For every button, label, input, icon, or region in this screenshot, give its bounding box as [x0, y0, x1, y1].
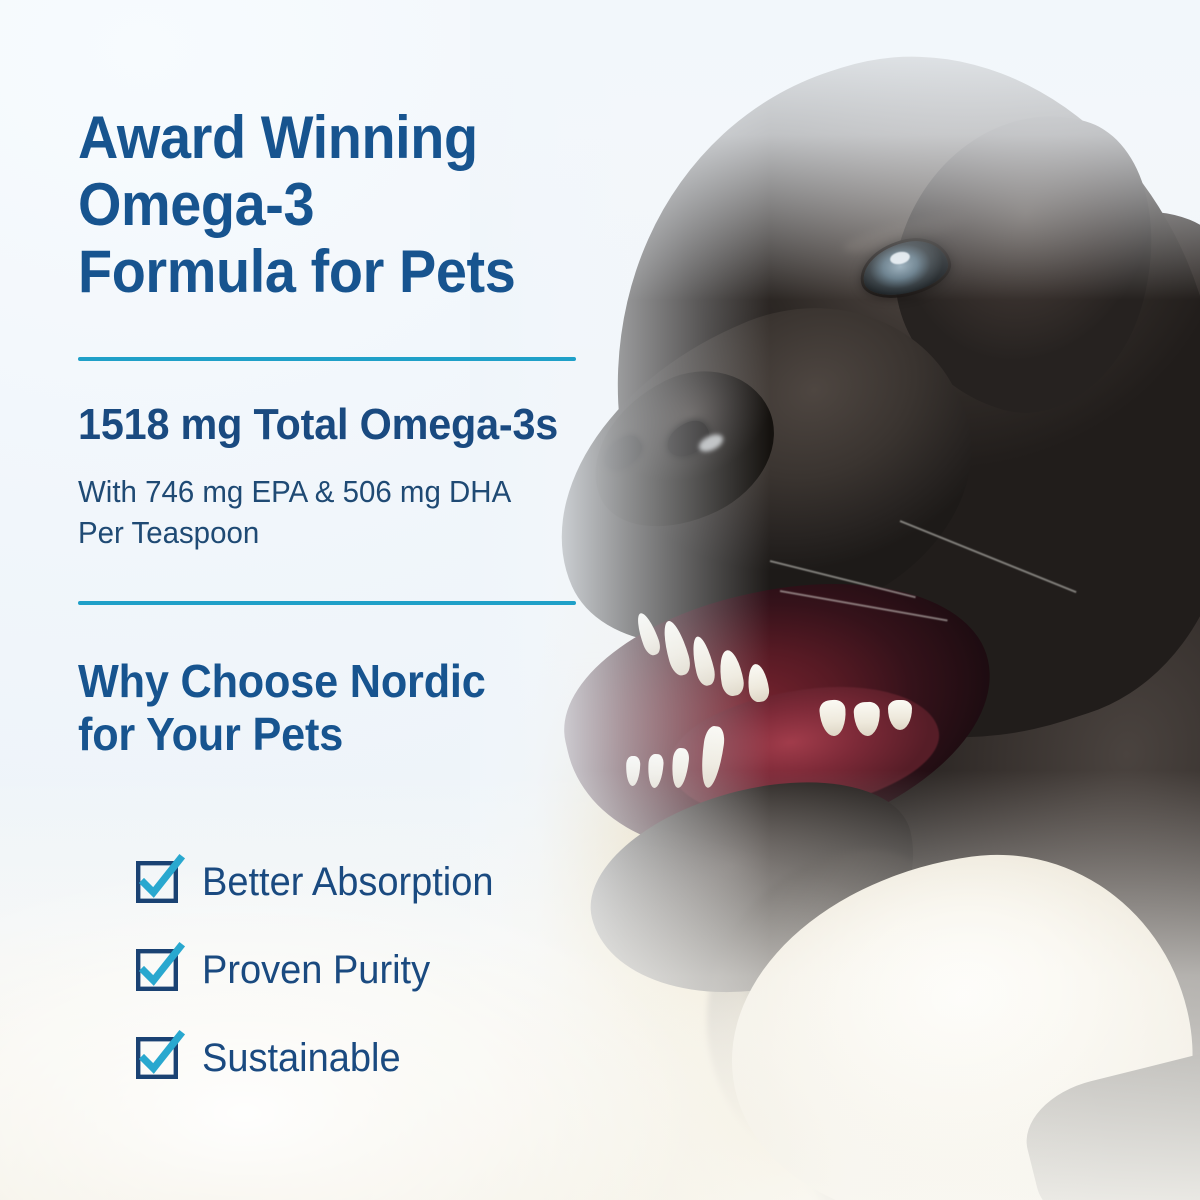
checkbox-checked-icon	[136, 861, 178, 903]
why-line-1: Why Choose Nordic	[78, 655, 486, 707]
product-marketing-banner: Award Winning Omega-3Formula for Pets 15…	[0, 0, 1200, 1200]
checkbox-checked-icon	[136, 949, 178, 991]
omega-total-heading: 1518 mg Total Omega-3s	[78, 400, 558, 450]
list-item: Sustainable	[136, 1014, 509, 1102]
text-column: Award Winning Omega-3Formula for Pets 15…	[0, 0, 620, 1200]
divider-top	[78, 357, 576, 361]
benefit-label: Better Absorption	[202, 862, 494, 902]
omega-detail-line-2: Per Teaspoon	[78, 515, 259, 550]
omega-detail-text: With 746 mg EPA & 506 mg DHAPer Teaspoon	[78, 472, 572, 554]
page-title: Award Winning Omega-3Formula for Pets	[78, 104, 580, 306]
omega-detail-line-1: With 746 mg EPA & 506 mg DHA	[78, 474, 511, 509]
benefit-label: Proven Purity	[202, 950, 430, 990]
list-item: Better Absorption	[136, 838, 509, 926]
headline-line-1: Award Winning Omega-3	[78, 104, 478, 238]
list-item: Proven Purity	[136, 926, 509, 1014]
headline-line-2: Formula for Pets	[78, 238, 515, 305]
benefit-label: Sustainable	[202, 1038, 401, 1078]
why-choose-heading: Why Choose Nordicfor Your Pets	[78, 655, 529, 761]
benefits-list: Better Absorption Proven Purity	[136, 838, 509, 1102]
why-line-2: for Your Pets	[78, 708, 343, 760]
divider-middle	[78, 601, 576, 605]
checkbox-checked-icon	[136, 1037, 178, 1079]
